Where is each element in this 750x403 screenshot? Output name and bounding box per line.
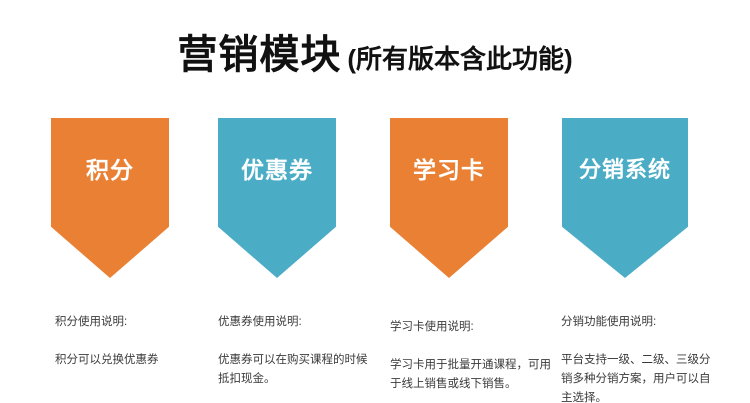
module-caption-distribution: 分销功能使用说明: 平台支持一级、二级、三级分销多种分销方案，用户可以自主选择。 (561, 294, 721, 403)
module-caption-study-card: 学习卡使用说明: 学习卡用于批量开通课程，可用于线上销售或线下销售。 (390, 299, 555, 403)
caption-title: 分销功能使用说明: (561, 313, 721, 332)
page-title-main: 营销模块 (177, 33, 341, 77)
module-banner-points[interactable]: 积分 (51, 118, 169, 278)
module-caption-coupon: 优惠券使用说明: 优惠券可以在购买课程的时候抵扣现金。 (218, 294, 373, 403)
caption-body: 学习卡用于批量开通课程，可用于线上销售或线下销售。 (390, 356, 555, 394)
module-banner-distribution-system[interactable]: 分销系统 (562, 118, 688, 278)
module-banner-label: 分销系统 (579, 158, 671, 182)
caption-title: 学习卡使用说明: (390, 318, 555, 337)
caption-body: 平台支持一级、二级、三级分销多种分销方案，用户可以自主选择。 (561, 351, 721, 403)
caption-title: 优惠券使用说明: (218, 313, 373, 332)
module-caption-points: 积分使用说明: 积分可以兑换优惠券 (55, 294, 205, 389)
module-banner-label: 积分 (86, 158, 134, 183)
caption-body: 积分可以兑换优惠券 (55, 351, 205, 370)
module-banner-study-card[interactable]: 学习卡 (390, 118, 508, 278)
module-banner-label: 优惠券 (241, 158, 313, 183)
page-title-sub: (所有版本含此功能) (347, 44, 572, 74)
caption-body: 优惠券可以在购买课程的时候抵扣现金。 (218, 351, 373, 389)
module-banner-label: 学习卡 (413, 158, 485, 183)
page-title: 营销模块(所有版本含此功能) (0, 22, 750, 80)
caption-title: 积分使用说明: (55, 313, 205, 332)
marketing-modules-slide: 营销模块(所有版本含此功能) 积分 优惠券 学习卡 分销系统 积分使用说明: 积… (0, 0, 750, 403)
module-banner-coupon[interactable]: 优惠券 (218, 118, 336, 278)
